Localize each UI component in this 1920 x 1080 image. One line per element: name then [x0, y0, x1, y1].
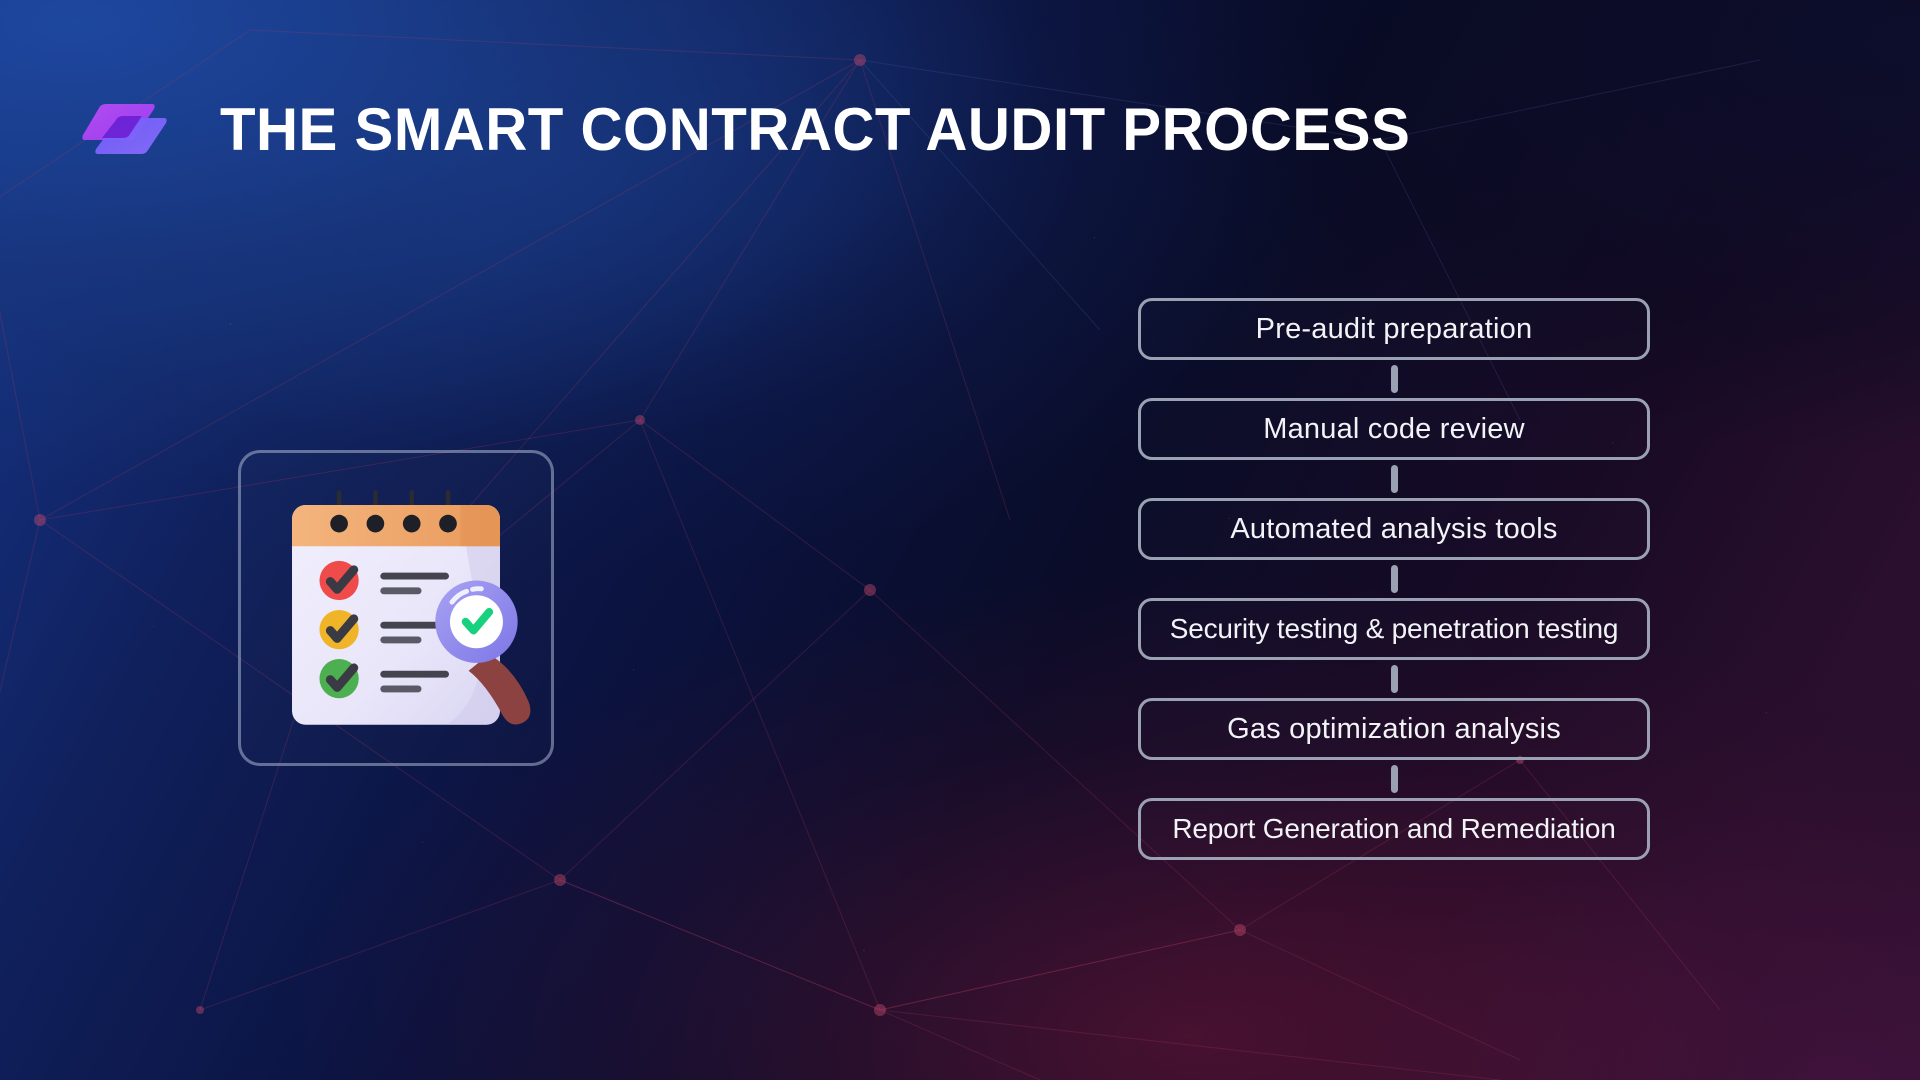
flow-step-label: Pre-audit preparation — [1256, 313, 1533, 346]
flow-step-report-generation-and-remediation[interactable]: Report Generation and Remediation — [1138, 798, 1650, 860]
page-title: THE SMART CONTRACT AUDIT PROCESS — [220, 100, 1410, 160]
flow-connector-4 — [1391, 665, 1398, 693]
checklist-with-magnifier-icon — [241, 453, 551, 763]
checklist-illustration-card — [238, 450, 554, 766]
flow-step-label: Security testing & penetration testing — [1170, 613, 1618, 645]
flow-step-label: Automated analysis tools — [1230, 513, 1557, 546]
flow-step-label: Report Generation and Remediation — [1172, 813, 1615, 845]
slide-canvas: THE SMART CONTRACT AUDIT PROCESS — [0, 0, 1920, 1080]
flow-step-label: Manual code review — [1263, 413, 1525, 446]
flow-step-label: Gas optimization analysis — [1227, 713, 1561, 746]
brand-logo-icon — [78, 96, 168, 164]
flow-step-automated-analysis-tools[interactable]: Automated analysis tools — [1138, 498, 1650, 560]
flow-connector-3 — [1391, 565, 1398, 593]
audit-process-flowchart: Pre-audit preparation Manual code review… — [1138, 298, 1650, 860]
flow-step-manual-code-review[interactable]: Manual code review — [1138, 398, 1650, 460]
flow-connector-2 — [1391, 465, 1398, 493]
slide-header: THE SMART CONTRACT AUDIT PROCESS — [78, 96, 1447, 164]
flow-step-security-testing-penetration-testing[interactable]: Security testing & penetration testing — [1138, 598, 1650, 660]
flow-connector-1 — [1391, 365, 1398, 393]
flow-step-pre-audit-preparation[interactable]: Pre-audit preparation — [1138, 298, 1650, 360]
flow-step-gas-optimization-analysis[interactable]: Gas optimization analysis — [1138, 698, 1650, 760]
flow-connector-5 — [1391, 765, 1398, 793]
